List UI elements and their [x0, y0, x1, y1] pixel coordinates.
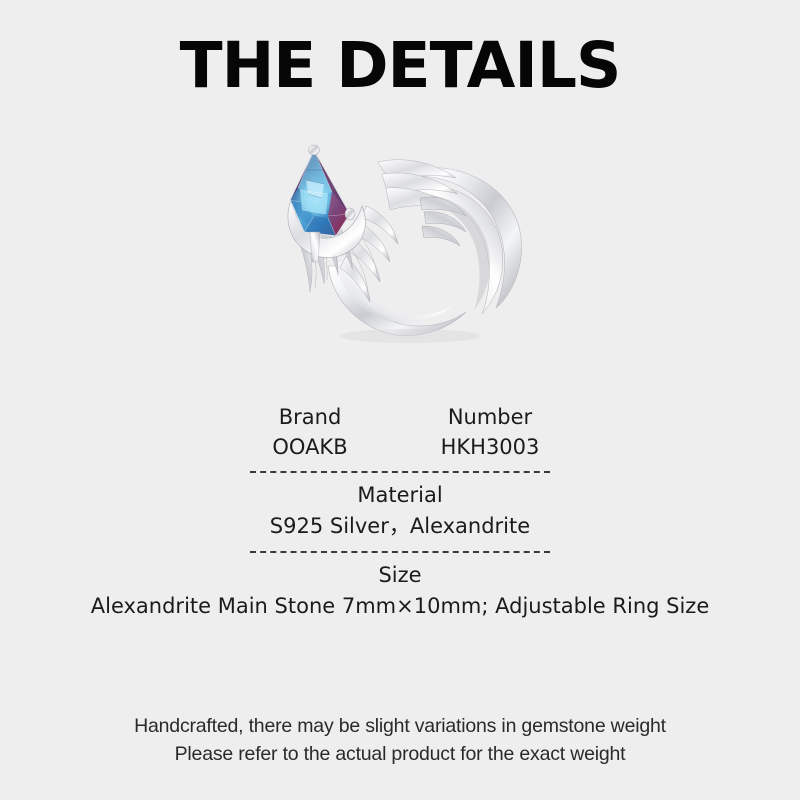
- spec-label-brand: Brand: [240, 402, 380, 432]
- spec-group-size: Size Alexandrite Main Stone 7mm×10mm; Ad…: [0, 560, 800, 622]
- footer-line-2: Please refer to the actual product for t…: [0, 740, 800, 768]
- divider-1: [250, 471, 550, 473]
- spec-label-size: Size: [0, 560, 800, 591]
- specifications-block: Brand OOAKB Number HKH3003 Material S925…: [0, 402, 800, 622]
- spec-value-number: HKH3003: [420, 432, 560, 462]
- footer-disclaimer: Handcrafted, there may be slight variati…: [0, 712, 800, 768]
- spec-column-brand: Brand OOAKB: [240, 402, 380, 462]
- spec-label-number: Number: [420, 402, 560, 432]
- spec-columns-row: Brand OOAKB Number HKH3003: [0, 402, 800, 462]
- spec-label-material: Material: [0, 480, 800, 511]
- product-image: [270, 140, 560, 355]
- footer-line-1: Handcrafted, there may be slight variati…: [0, 712, 800, 740]
- divider-2: [250, 551, 550, 553]
- spec-value-material: S925 Silver，Alexandrite: [0, 511, 800, 542]
- spec-value-brand: OOAKB: [240, 432, 380, 462]
- page-title: THE DETAILS: [0, 34, 800, 97]
- spec-value-size: Alexandrite Main Stone 7mm×10mm; Adjusta…: [0, 591, 800, 622]
- spec-column-number: Number HKH3003: [420, 402, 560, 462]
- spec-group-material: Material S925 Silver，Alexandrite: [0, 480, 800, 542]
